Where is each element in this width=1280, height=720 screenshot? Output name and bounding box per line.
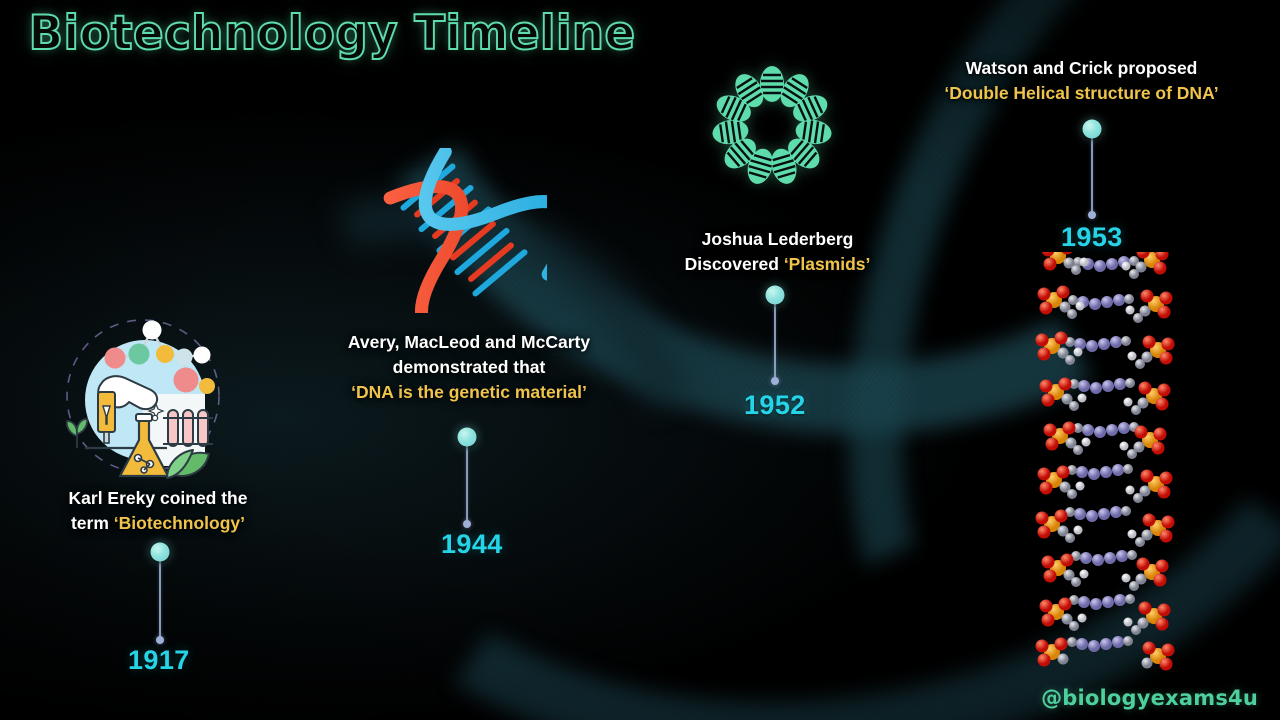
event-caption-lederberg: Joshua Lederberg Discovered ‘Plasmids’ bbox=[665, 227, 890, 277]
event-year-1952: 1952 bbox=[744, 390, 806, 421]
caption-highlight-biotechnology: ‘Biotechnology’ bbox=[114, 513, 245, 533]
stem-dot-top-icon bbox=[151, 543, 170, 562]
event-year-1917: 1917 bbox=[128, 645, 190, 676]
stem-line bbox=[1091, 129, 1093, 215]
page-title: Biotechnology Timeline bbox=[29, 10, 636, 57]
caption-line-2-prefix: term bbox=[71, 513, 114, 533]
event-stem-karl-ereky bbox=[150, 552, 170, 640]
caption-highlight-double-helix: ‘Double Helical structure of DNA’ bbox=[944, 83, 1218, 103]
stem-dot-bottom-icon bbox=[771, 377, 779, 385]
caption-line-2: demonstrated that bbox=[393, 357, 546, 377]
stem-dot-bottom-icon bbox=[1088, 211, 1096, 219]
event-stem-avery bbox=[457, 437, 477, 524]
caption-line-1: Karl Ereky coined the bbox=[69, 488, 248, 508]
event-year-1953: 1953 bbox=[1061, 222, 1123, 253]
event-stem-lederberg bbox=[765, 295, 785, 381]
caption-line-2-prefix: Discovered bbox=[685, 254, 784, 274]
dna-molecular-model-illustration bbox=[1028, 252, 1188, 672]
caption-highlight-dna-genetic-material: ‘DNA is the genetic material’ bbox=[351, 382, 587, 402]
biotech-lab-illustration bbox=[55, 308, 230, 483]
caption-line-1: Watson and Crick proposed bbox=[966, 58, 1198, 78]
plasmid-ring-icon bbox=[712, 62, 832, 190]
dna-double-helix-illustration bbox=[382, 148, 547, 313]
stem-line bbox=[466, 437, 468, 524]
caption-line-1: Joshua Lederberg bbox=[702, 229, 854, 249]
watermark-handle: @biologyexams4u bbox=[1041, 686, 1258, 710]
event-caption-watson-crick: Watson and Crick proposed ‘Double Helica… bbox=[919, 56, 1244, 106]
stem-line bbox=[159, 552, 161, 640]
stem-dot-top-icon bbox=[1083, 120, 1102, 139]
event-stem-watson-crick bbox=[1082, 129, 1102, 215]
stem-dot-bottom-icon bbox=[156, 636, 164, 644]
caption-highlight-plasmids: ‘Plasmids’ bbox=[784, 254, 871, 274]
stem-dot-top-icon bbox=[766, 286, 785, 305]
stem-dot-top-icon bbox=[458, 428, 477, 447]
stem-dot-bottom-icon bbox=[463, 520, 471, 528]
timeline-canvas: Biotechnology Timeline bbox=[0, 0, 1280, 720]
stem-line bbox=[774, 295, 776, 381]
event-year-1944: 1944 bbox=[441, 529, 503, 560]
event-caption-karl-ereky: Karl Ereky coined the term ‘Biotechnolog… bbox=[52, 486, 264, 536]
caption-line-1: Avery, MacLeod and McCarty bbox=[348, 332, 590, 352]
event-caption-avery: Avery, MacLeod and McCarty demonstrated … bbox=[329, 330, 609, 405]
